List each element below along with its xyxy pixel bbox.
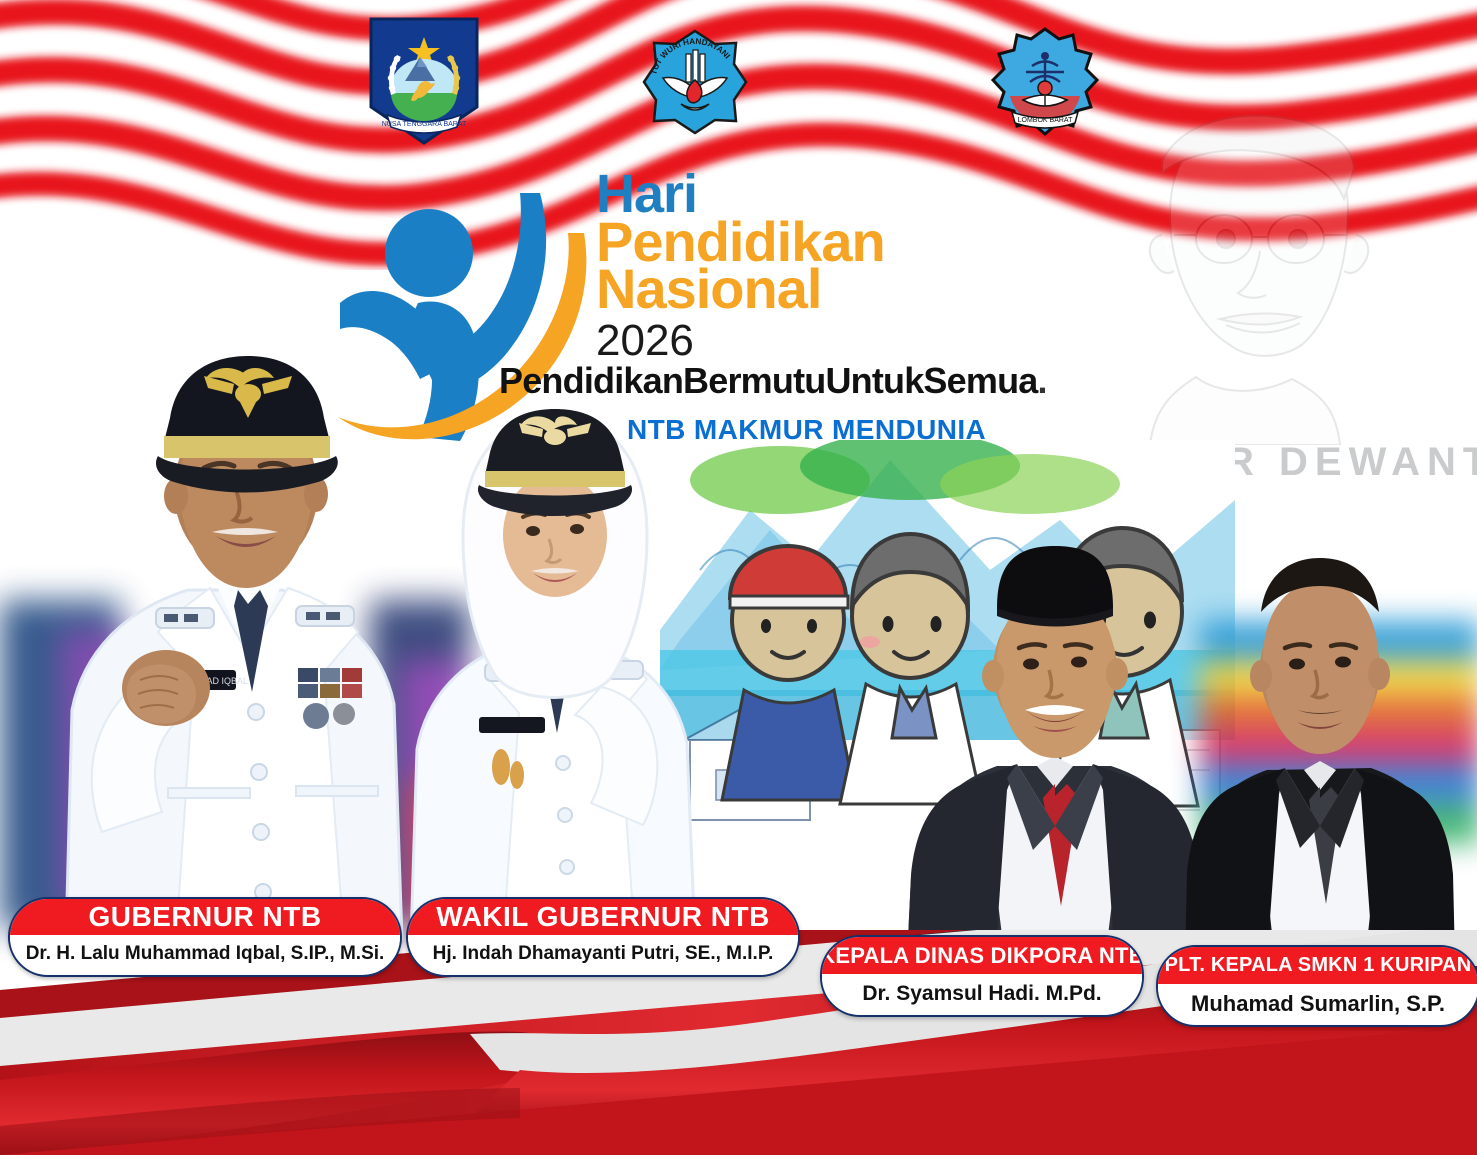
nameplate-gubernur-name: Dr. H. Lalu Muhammad Iqbal, S.IP., M.Si. xyxy=(10,935,400,973)
hardiknas-head-circle xyxy=(385,209,473,297)
tagline-period: . xyxy=(1038,360,1047,401)
smkn1-kuripan-logo: LOMBOK BARAT xyxy=(988,26,1102,148)
figure-plt-kepala-sekolah xyxy=(1185,540,1455,960)
ntb-emblem-caption: NUSA TENGGARA BARAT xyxy=(382,121,467,128)
figure-gubernur: LALU MUHAMMAD IQBAL xyxy=(60,340,430,940)
nameplate-plt-kepala-role: PLT. KEPALA SMKN 1 KURIPAN xyxy=(1158,947,1477,984)
nameplate-kepala-dinas-name: Dr. Syamsul Hadi. M.Pd. xyxy=(822,974,1142,1013)
headline-block: Hari Pendidikan Nasional 2026 xyxy=(596,170,1156,363)
nameplate-plt-kepala: PLT. KEPALA SMKN 1 KURIPAN Muhamad Sumar… xyxy=(1156,945,1477,1027)
tut-wuri-handayani-logo: TUT WURI HANDAYANI xyxy=(641,28,749,136)
figure-kepala-dinas xyxy=(905,530,1205,960)
poster-canvas: NUSA TENGGARA BARAT TUT WURI HANDAYANI xyxy=(0,0,1477,1155)
nameplate-wakil-gubernur: WAKIL GUBERNUR NTB Hj. Indah Dhamayanti … xyxy=(406,897,800,977)
nameplate-gubernur-role: GUBERNUR NTB xyxy=(10,899,400,935)
nameplate-wakil-gubernur-name: Hj. Indah Dhamayanti Putri, SE., M.I.P. xyxy=(408,935,798,973)
nameplate-gubernur: GUBERNUR NTB Dr. H. Lalu Muhammad Iqbal,… xyxy=(8,897,402,977)
nameplate-plt-kepala-name: Muhamad Sumarlin, S.P. xyxy=(1158,984,1477,1023)
figure-wakil-gubernur xyxy=(405,395,705,940)
nameplate-kepala-dinas: KEPALA DINAS DIKPORA NTB Dr. Syamsul Had… xyxy=(820,935,1144,1017)
title-year: 2026 xyxy=(596,319,1156,363)
ntb-province-emblem-logo: NUSA TENGGARA BARAT xyxy=(365,15,483,147)
smkn1-caption: LOMBOK BARAT xyxy=(1018,117,1073,124)
nameplate-wakil-gubernur-role: WAKIL GUBERNUR NTB xyxy=(408,899,798,935)
nameplate-kepala-dinas-role: KEPALA DINAS DIKPORA NTB xyxy=(822,937,1142,974)
